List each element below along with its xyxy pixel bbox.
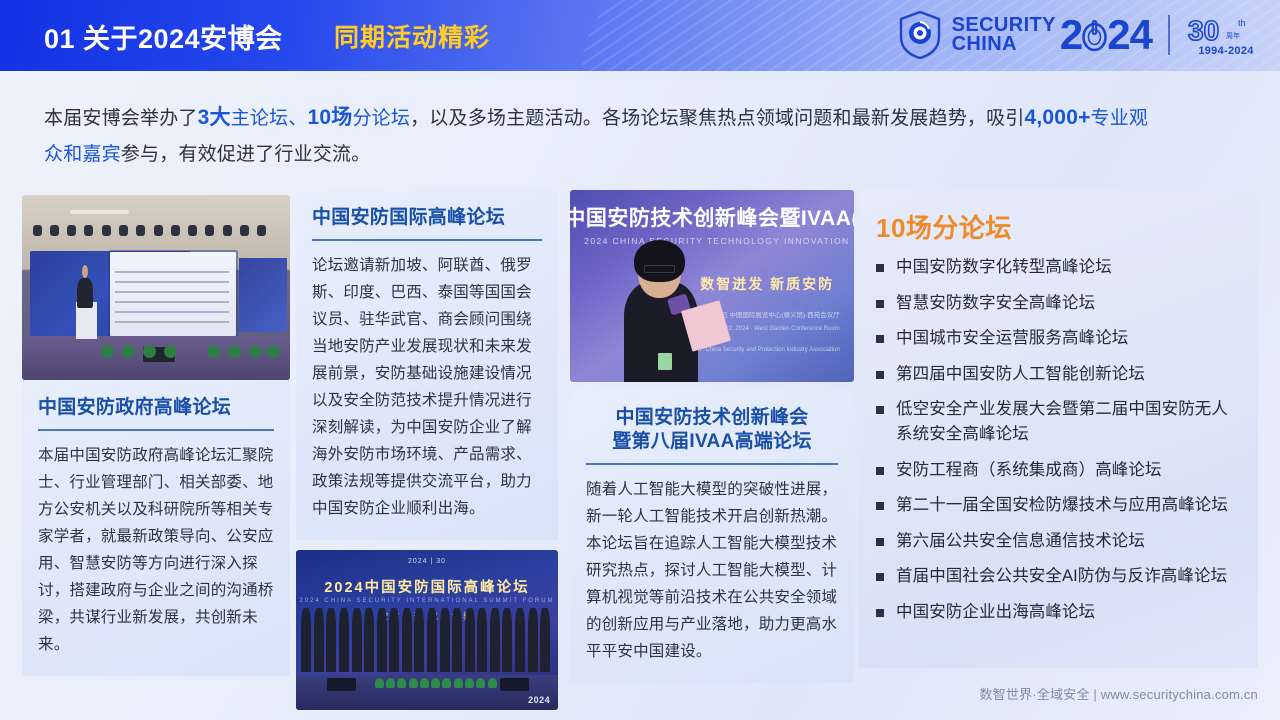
list-item: 智慧安防数字安全高峰论坛 [876,291,1242,316]
list-item: 中国安防企业出海高峰论坛 [876,600,1242,625]
list-item: 首届中国社会公共安全AI防伪与反诈高峰论坛 [876,564,1242,589]
card-title-technology-line2: 暨第八届IVAA高端论坛 [586,430,838,454]
sub-forums-panel: 10场分论坛 中国安防数字化转型高峰论坛 智慧安防数字安全高峰论坛 中国城市安全… [858,190,1258,668]
svg-text:周年: 周年 [1226,31,1240,40]
government-summit-stage-photo [22,195,290,380]
list-item-label: 安防工程商（系统集成商）高峰论坛 [896,461,1162,479]
card-title-international: 中国安防国际高峰论坛 [312,206,542,230]
bullet-icon [876,335,884,343]
list-item-label: 第四届中国安防人工智能创新论坛 [896,365,1145,383]
security-china-logo: SECURITY CHINA 2 24 30 th 周年 1994- [899,6,1266,64]
logo-year-suffix: 24 [1107,11,1152,59]
intro-part1: 本届安博会举办了 [44,108,198,129]
intro-paragraph: 本届安博会举办了3大主论坛、10场分论坛，以及多场主题活动。各场论坛聚焦热点领域… [44,100,1154,173]
list-item: 低空安全产业发展大会暨第二届中国安防无人系统安全高峰论坛 [876,397,1242,447]
card-body-international: 论坛邀请新加坡、阿联酋、俄罗斯、印度、巴西、泰国等国国会议员、驻华武官、商会顾问… [312,252,542,522]
card-body-government: 本届中国安防政府高峰论坛汇聚院士、行业管理部门、相关部委、地方公安机关以及科研院… [38,442,274,658]
svg-text:th: th [1238,18,1246,28]
list-item-label: 第六届公共安全信息通信技术论坛 [896,532,1145,550]
list-item-label: 第二十一届全国安检防爆技术与应用高峰论坛 [896,496,1228,514]
svg-text:30: 30 [1188,15,1219,46]
intro-part2: 主论坛、 [231,108,308,129]
shield-icon [899,11,941,59]
group-photo-title: 2024中国安防国际高峰论坛 [296,576,558,597]
bullet-icon [876,502,884,510]
list-item: 中国安防数字化转型高峰论坛 [876,255,1242,280]
card-body-technology: 随着人工智能大模型的突破性进展，新一轮人工智能技术开启创新热潮。本论坛旨在追踪人… [586,476,838,665]
group-photo-top-logos: 2024 | 30 [296,558,558,565]
bullet-icon [876,573,884,581]
logo-line-china: CHINA [952,35,1056,54]
card-title-technology-line1: 中国安防技术创新峰会 [586,406,838,430]
anniversary-years: 1994-2024 [1198,45,1253,57]
intro-part4: ，以及多场主题活动。各场论坛聚焦热点领域问题和最新发展趋势， [410,108,986,129]
intro-highlight-3da: 3大 [198,106,231,129]
intro-part3: 分论坛 [352,108,410,129]
list-item-label: 智慧安防数字安全高峰论坛 [896,294,1095,312]
technology-summit-textbox: 中国安防技术创新峰会 暨第八届IVAA高端论坛 随着人工智能大模型的突破性进展，… [570,390,854,683]
group-photo-people [301,608,553,672]
intro-part5: 吸引 [986,108,1024,129]
stage-lights [33,225,280,242]
intro-highlight-4000: 4,000+ [1025,106,1091,129]
card-divider [38,429,274,431]
list-item-label: 中国安防数字化转型高峰论坛 [896,258,1112,276]
card-divider [586,463,838,465]
card-technology-summit: 中国安防技术创新峰会暨IVAA(第 2024 CHINA SECURITY TE… [570,190,854,683]
sub-forums-title: 10场分论坛 [876,208,1242,245]
anniversary-30-icon: 30 th 周年 [1186,14,1266,46]
logo-year-prefix: 2 [1060,11,1082,59]
bullet-icon [876,371,884,379]
logo-wordmark: SECURITY CHINA [952,16,1056,54]
list-item-label: 低空安全产业发展大会暨第二届中国安防无人系统安全高峰论坛 [896,400,1228,443]
page-subtitle: 同期活动精彩 [334,18,490,54]
group-photo-badge: 2024 [528,695,550,705]
card-government-summit: 中国安防政府高峰论坛 本届中国安防政府高峰论坛汇聚院士、行业管理部门、相关部委、… [22,195,290,676]
list-item: 第二十一届全国安检防爆技术与应用高峰论坛 [876,493,1242,518]
international-summit-group-photo: 2024 | 30 2024中国安防国际高峰论坛 2024 CHINA SECU… [296,550,558,710]
logo-divider [1168,15,1170,55]
bullet-icon [876,406,884,414]
tech-photo-slogan: 数智迸发 新质安防 [700,274,834,294]
list-item: 第四届中国安防人工智能创新论坛 [876,362,1242,387]
intro-part7: 参与，有效促进了行业交流。 [121,144,371,165]
tech-photo-title: 中国安防技术创新峰会暨IVAA(第 [570,202,854,232]
page-header: 01 关于2024安博会 同期活动精彩 SECURITY CHINA 2 24 [0,0,1280,71]
list-item-label: 首届中国社会公共安全AI防伪与反诈高峰论坛 [896,567,1227,585]
government-summit-textbox: 中国安防政府高峰论坛 本届中国安防政府高峰论坛汇聚院士、行业管理部门、相关部委、… [22,380,290,676]
bullet-icon [876,264,884,272]
bullet-icon [876,538,884,546]
technology-innovation-summit-photo: 中国安防技术创新峰会暨IVAA(第 2024 CHINA SECURITY TE… [570,190,854,382]
list-item: 安防工程商（系统集成商）高峰论坛 [876,458,1242,483]
tech-photo-subtitle: 2024 CHINA SECURITY TECHNOLOGY INNOVATIO… [584,236,854,246]
bullet-icon [876,609,884,617]
list-item-label: 中国城市安全运营服务高峰论坛 [896,329,1128,347]
list-item: 第六届公共安全信息通信技术论坛 [876,529,1242,554]
power-button-icon [1081,18,1108,52]
bullet-icon [876,300,884,308]
card-international-summit: 中国安防国际高峰论坛 论坛邀请新加坡、阿联酋、俄罗斯、印度、巴西、泰国等国国会议… [296,190,558,710]
logo-year: 2 24 [1060,11,1152,59]
list-item: 中国城市安全运营服务高峰论坛 [876,326,1242,351]
intro-highlight-10chang: 10场 [308,106,353,129]
footer-text: 数智世界·全域安全 | www.securitychina.com.cn [979,684,1258,703]
anniversary-badge: 30 th 周年 1994-2024 [1186,14,1266,57]
card-divider [312,239,542,241]
list-item-label: 中国安防企业出海高峰论坛 [896,603,1095,621]
card-title-government: 中国安防政府高峰论坛 [38,396,274,420]
content-area: 中国安防政府高峰论坛 本届中国安防政府高峰论坛汇聚院士、行业管理部门、相关部委、… [0,190,1280,670]
bullet-icon [876,467,884,475]
international-summit-textbox: 中国安防国际高峰论坛 论坛邀请新加坡、阿联酋、俄罗斯、印度、巴西、泰国等国国会议… [296,190,558,540]
sub-forums-list: 中国安防数字化转型高峰论坛 智慧安防数字安全高峰论坛 中国城市安全运营服务高峰论… [876,255,1242,625]
page-title: 01 关于2024安博会 [44,17,283,56]
